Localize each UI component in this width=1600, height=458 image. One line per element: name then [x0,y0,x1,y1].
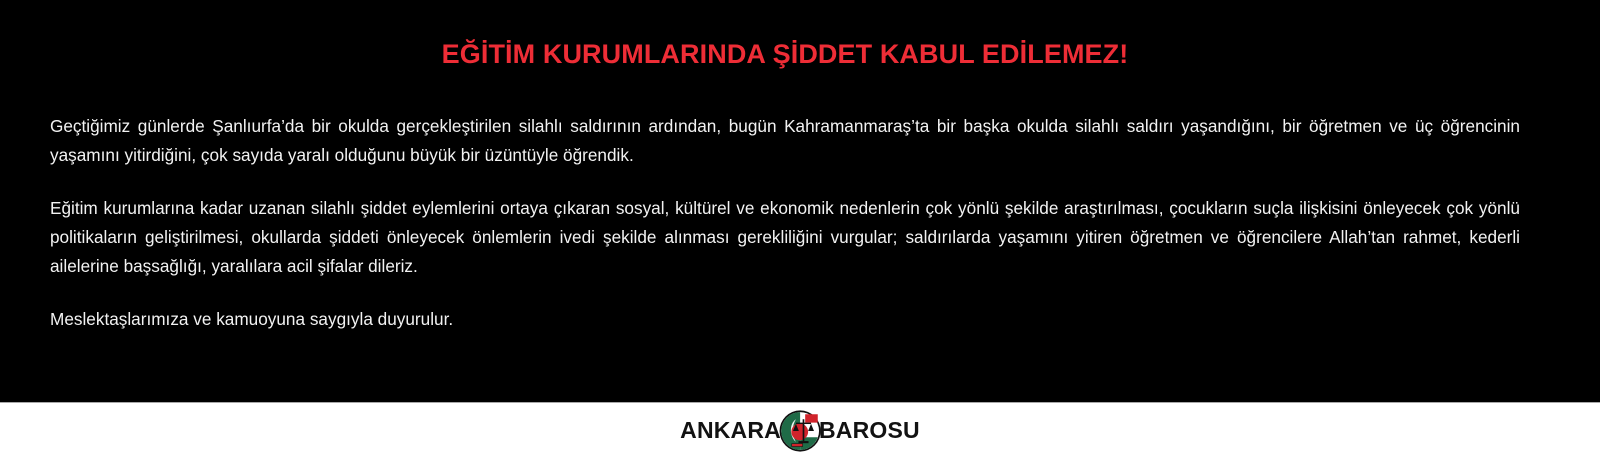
logo-word-right: BAROSU [819,419,920,442]
announcement-body: Geçtiğimiz günlerde Şanlıurfa’da bir oku… [50,70,1520,334]
announcement-paragraph-3: Meslektaşlarımıza ve kamuoyuna saygıyla … [50,305,1520,334]
announcement-paragraph-2: Eğitim kurumlarına kadar uzanan silahlı … [50,194,1520,281]
page-title: EĞİTİM KURUMLARINDA ŞİDDET KABUL EDİLEME… [50,0,1520,70]
footer-bar: ANKARA [0,402,1600,458]
announcement-screenshot: EĞİTİM KURUMLARINDA ŞİDDET KABUL EDİLEME… [0,0,1600,458]
announcement-panel: EĞİTİM KURUMLARINDA ŞİDDET KABUL EDİLEME… [0,0,1600,402]
ankara-bar-association-emblem-icon [779,410,821,452]
ankara-barosu-logo[interactable]: ANKARA [680,410,920,452]
announcement-content: EĞİTİM KURUMLARINDA ŞİDDET KABUL EDİLEME… [50,0,1520,334]
logo-word-left: ANKARA [680,419,781,442]
announcement-paragraph-1: Geçtiğimiz günlerde Şanlıurfa’da bir oku… [50,112,1520,170]
